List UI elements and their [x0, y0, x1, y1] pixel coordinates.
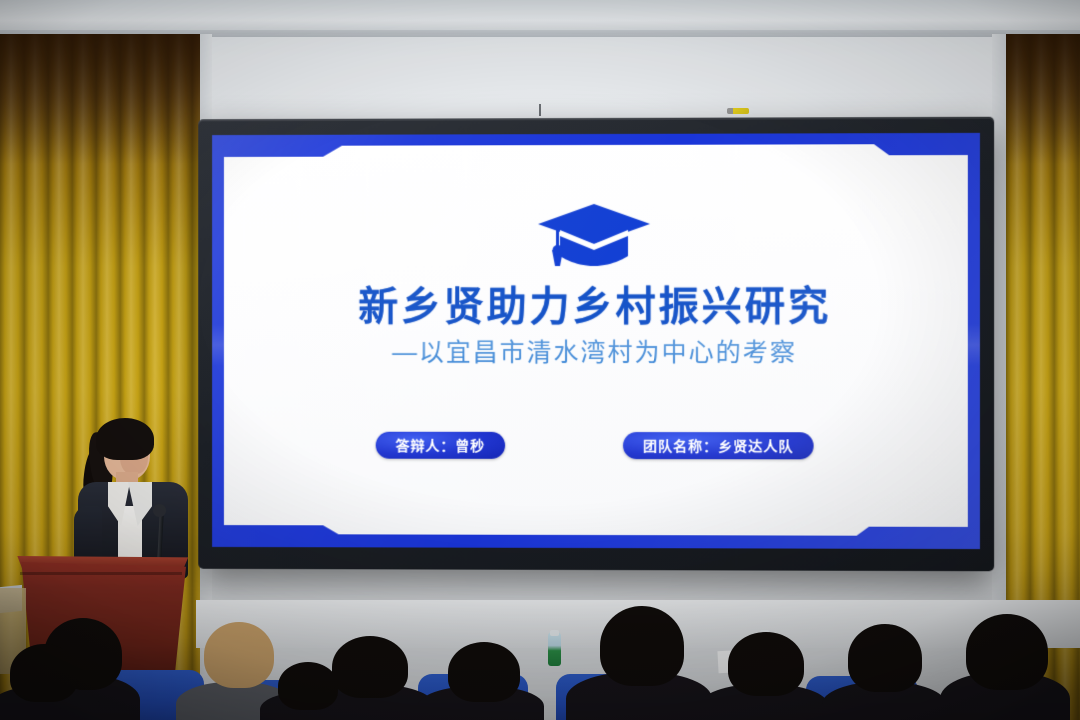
- audience-head: [600, 606, 684, 686]
- presentation-photo-scene: 新乡贤助力乡村振兴研究 —以宜昌市清水湾村为中心的考察 答辩人：曾秒 团队名称：…: [0, 0, 1080, 720]
- microphone-head: [153, 504, 166, 517]
- podium-edge: [20, 572, 182, 575]
- audience-head: [728, 632, 804, 696]
- wall-pin: [539, 104, 541, 116]
- screen-panel: 新乡贤助力乡村振兴研究 —以宜昌市清水湾村为中心的考察 答辩人：曾秒 团队名称：…: [212, 133, 980, 549]
- audience-head: [966, 614, 1048, 690]
- wall-clip-fixture: [727, 108, 749, 114]
- audience-row: [0, 624, 1080, 720]
- audience-head: [10, 644, 78, 702]
- slide-titles: 新乡贤助力乡村振兴研究 —以宜昌市清水湾村为中心的考察: [212, 284, 980, 369]
- speaker-hair: [96, 418, 154, 460]
- audience-head: [332, 636, 408, 698]
- graduation-cap-icon-wrap: [212, 199, 980, 270]
- slide-content: 新乡贤助力乡村振兴研究 —以宜昌市清水湾村为中心的考察 答辩人：曾秒 团队名称：…: [212, 133, 980, 549]
- water-bottle: [548, 632, 561, 666]
- bottle-cap: [550, 630, 559, 636]
- slide-title: 新乡贤助力乡村振兴研究: [212, 284, 980, 332]
- slide-badges: 答辩人：曾秒 团队名称：乡贤达人队: [212, 432, 980, 460]
- graduation-cap-icon: [534, 200, 654, 270]
- slide-subtitle: —以宜昌市清水湾村为中心的考察: [212, 338, 980, 368]
- audience-head: [448, 642, 520, 702]
- slide-frame: 新乡贤助力乡村振兴研究 —以宜昌市清水湾村为中心的考察 答辩人：曾秒 团队名称：…: [212, 133, 980, 549]
- presentation-screen[interactable]: 新乡贤助力乡村振兴研究 —以宜昌市清水湾村为中心的考察 答辩人：曾秒 团队名称：…: [198, 117, 994, 571]
- audience-head: [848, 624, 922, 692]
- hall-ceiling: [0, 0, 1080, 34]
- team-name-badge: 团队名称：乡贤达人队: [623, 432, 814, 459]
- audience-head-balding: [204, 622, 274, 688]
- presenter-badge: 答辩人：曾秒: [376, 432, 505, 459]
- audience-head: [278, 662, 338, 710]
